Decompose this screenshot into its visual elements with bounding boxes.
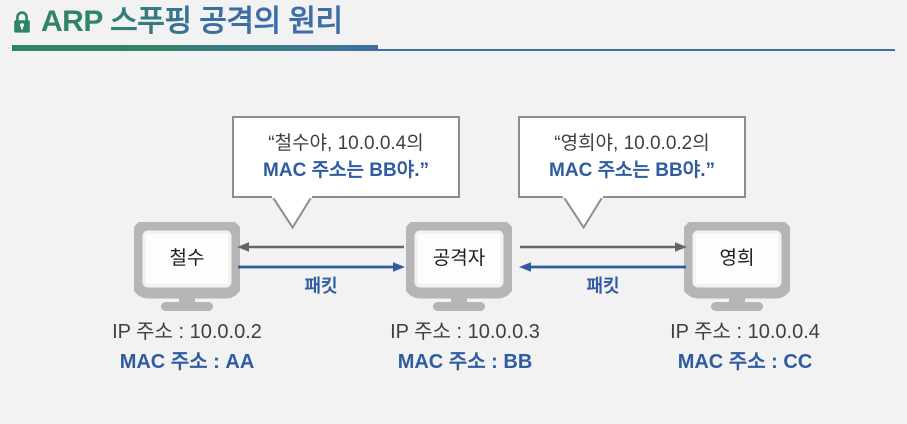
- speech-bubble-right-line1: “영희야, 10.0.0.2의: [554, 130, 709, 157]
- lock-icon: [12, 10, 32, 34]
- page-title: ARP 스푸핑 공격의 원리: [41, 5, 343, 39]
- speech-bubble-right: “영희야, 10.0.0.2의 MAC 주소는 BB야.”: [518, 116, 746, 198]
- speech-bubble-left-tail: [270, 196, 314, 230]
- address-block-attacker: IP 주소 : 10.0.0.3 MAC 주소 : BB: [325, 318, 605, 377]
- mac-address-cheolsu: MAC 주소 : AA: [47, 347, 327, 377]
- speech-bubble-right-tail: [561, 196, 605, 230]
- speech-bubble-left-line1: “철수야, 10.0.0.4의: [268, 130, 423, 157]
- computer-younghee: 영희: [684, 222, 790, 314]
- computer-attacker: 공격자: [406, 222, 512, 314]
- arrow-group-left: 패킷: [236, 240, 406, 300]
- computer-cheolsu-label: 철수: [134, 247, 240, 271]
- arrow-pair-left: [236, 240, 406, 276]
- address-block-younghee: IP 주소 : 10.0.0.4 MAC 주소 : CC: [605, 318, 885, 377]
- title-underline-thick: [12, 45, 378, 51]
- arrow-pair-right: [518, 240, 688, 276]
- arrow-group-right: 패킷: [518, 240, 688, 300]
- slide-title-area: ARP 스푸핑 공격의 원리: [0, 0, 907, 56]
- mac-address-younghee: MAC 주소 : CC: [605, 347, 885, 377]
- computer-cheolsu: 철수: [134, 222, 240, 314]
- title-row: ARP 스푸핑 공격의 원리: [12, 5, 343, 39]
- computer-younghee-label: 영희: [684, 247, 790, 271]
- address-block-cheolsu: IP 주소 : 10.0.0.2 MAC 주소 : AA: [47, 318, 327, 377]
- packet-label-right: 패킷: [518, 274, 688, 298]
- ip-address-cheolsu: IP 주소 : 10.0.0.2: [47, 318, 327, 347]
- mac-address-attacker: MAC 주소 : BB: [325, 347, 605, 377]
- ip-address-younghee: IP 주소 : 10.0.0.4: [605, 318, 885, 347]
- ip-address-attacker: IP 주소 : 10.0.0.3: [325, 318, 605, 347]
- computer-attacker-label: 공격자: [406, 247, 512, 271]
- speech-bubble-left-line2: MAC 주소는 BB야.”: [263, 157, 429, 184]
- speech-bubble-right-line2: MAC 주소는 BB야.”: [549, 157, 715, 184]
- slide-canvas: ARP 스푸핑 공격의 원리 “철수야, 10.0.0.4의 MAC 주소는 B…: [0, 0, 907, 424]
- packet-label-left: 패킷: [236, 274, 406, 298]
- speech-bubble-left: “철수야, 10.0.0.4의 MAC 주소는 BB야.”: [232, 116, 460, 198]
